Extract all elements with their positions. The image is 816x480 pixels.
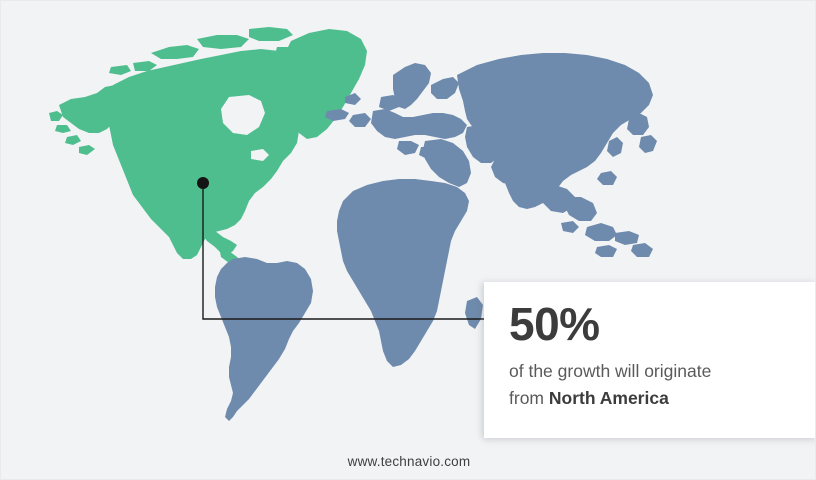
callout-description-line2: from North America bbox=[509, 385, 816, 412]
callout-line2-prefix: from bbox=[509, 388, 549, 408]
map-region-north-america[interactable] bbox=[49, 27, 367, 267]
footer: www.technavio.com bbox=[1, 441, 816, 480]
callout-description-line1: of the growth will originate bbox=[509, 358, 816, 385]
callout-region-name: North America bbox=[549, 388, 669, 408]
infographic-canvas: 50% of the growth will originate from No… bbox=[0, 0, 816, 480]
map-region-africa[interactable] bbox=[337, 139, 483, 367]
footer-url[interactable]: www.technavio.com bbox=[348, 454, 471, 469]
callout-percent-value: 50% bbox=[509, 300, 816, 349]
callout-card: 50% of the growth will originate from No… bbox=[484, 282, 816, 438]
map-region-south-america[interactable] bbox=[215, 257, 313, 421]
map-region-asia[interactable] bbox=[457, 53, 657, 257]
